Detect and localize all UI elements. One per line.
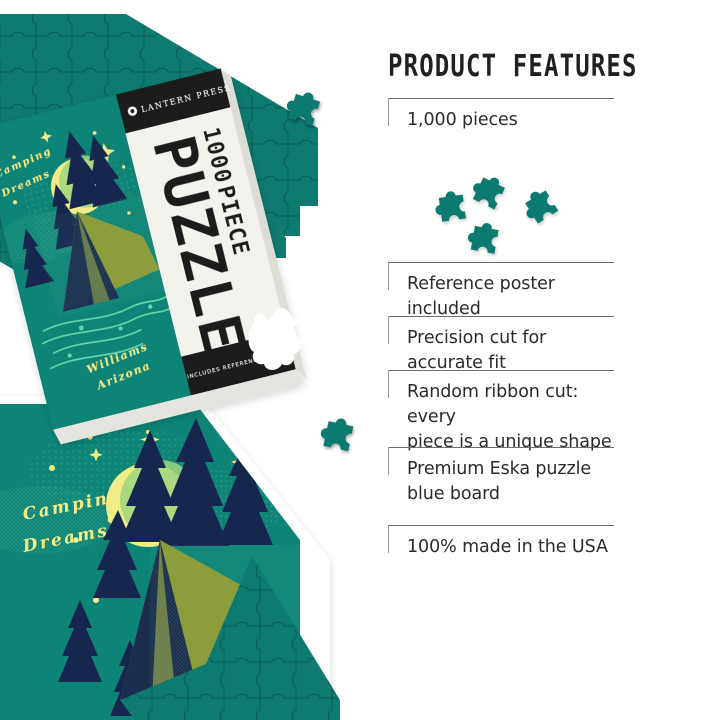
feature-label: Precision cut for accurate fit [407, 326, 620, 376]
feature-divider-stub [388, 447, 389, 475]
feature-divider-rule [388, 370, 614, 371]
feature-label: Premium Eska puzzle blue board [407, 457, 591, 507]
feature-label: 100% made in the USA [407, 535, 608, 560]
feature-divider-stub [388, 98, 389, 126]
product-photo-illustration: Camping Dreams [0, 0, 380, 720]
product-detail-screenshot: Camping Dreams [0, 0, 720, 720]
feature-divider-rule [388, 525, 614, 526]
product-features-panel: PRODUCT FEATURES 1,000 pieces Reference … [380, 0, 720, 720]
feature-divider-rule [388, 262, 614, 263]
page-title: PRODUCT FEATURES [388, 48, 638, 83]
feature-divider-stub [388, 262, 389, 290]
feature-divider-stub [388, 525, 389, 553]
feature-label: 1,000 pieces [407, 108, 518, 133]
feature-divider-rule [388, 447, 614, 448]
feature-label: Reference poster included [407, 272, 620, 322]
feature-divider-rule [388, 316, 614, 317]
feature-divider-stub [388, 370, 389, 398]
feature-label: Random ribbon cut: every piece is a uniq… [407, 380, 620, 455]
feature-divider-stub [388, 316, 389, 344]
product-photo: Camping Dreams [0, 0, 380, 720]
feature-divider-rule [388, 98, 614, 99]
